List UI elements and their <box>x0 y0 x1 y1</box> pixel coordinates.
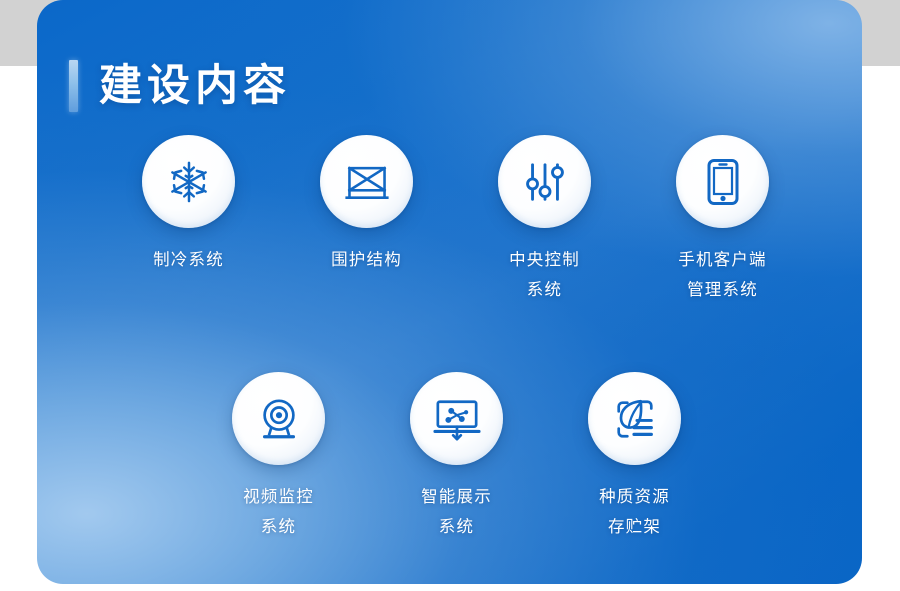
surveillance-camera-icon <box>256 396 302 442</box>
label-line: 视频监控 <box>243 482 314 512</box>
grid-item-label: 智能展示 系统 <box>421 482 492 542</box>
grid-item-video-surveillance[interactable]: 视频监控 系统 <box>190 372 368 542</box>
page-header: 建设内容 <box>69 60 291 112</box>
label-line: 管理系统 <box>678 275 767 305</box>
grid-row-2: 视频监控 系统 <box>37 372 862 542</box>
grid-item-mobile-client[interactable]: 手机客户端 管理系统 <box>634 135 812 305</box>
icon-bubble <box>232 372 325 465</box>
icon-bubble <box>320 135 413 228</box>
grid-item-central-control[interactable]: 中央控制 系统 <box>456 135 634 305</box>
grid-item-label: 围护结构 <box>331 245 402 275</box>
grid-item-label: 种质资源 存贮架 <box>599 482 670 542</box>
title-accent-bar <box>69 60 78 112</box>
label-line: 系统 <box>509 275 580 305</box>
system-grid: 制冷系统 <box>37 135 862 542</box>
label-line: 系统 <box>421 512 492 542</box>
content-panel: 建设内容 <box>37 0 862 584</box>
label-line: 围护结构 <box>331 245 402 275</box>
icon-bubble <box>142 135 235 228</box>
grid-item-label: 手机客户端 管理系统 <box>678 245 767 305</box>
poster-stage: 建设内容 <box>0 0 900 591</box>
smart-display-monitor-icon <box>432 396 482 442</box>
label-line: 制冷系统 <box>153 245 224 275</box>
icon-bubble <box>498 135 591 228</box>
label-line: 中央控制 <box>509 245 580 275</box>
icon-bubble <box>410 372 503 465</box>
grid-item-germplasm-rack[interactable]: 种质资源 存贮架 <box>546 372 724 542</box>
grid-row-1: 制冷系统 <box>37 135 862 305</box>
icon-bubble <box>588 372 681 465</box>
mobile-phone-icon <box>706 158 740 206</box>
icon-bubble <box>676 135 769 228</box>
label-line: 手机客户端 <box>678 245 767 275</box>
label-line: 种质资源 <box>599 482 670 512</box>
grid-item-label: 视频监控 系统 <box>243 482 314 542</box>
snowflake-icon <box>166 159 212 205</box>
grid-item-refrigeration[interactable]: 制冷系统 <box>100 135 278 275</box>
grid-item-label: 制冷系统 <box>153 245 224 275</box>
sliders-control-icon <box>523 159 567 205</box>
page-title: 建设内容 <box>99 65 291 108</box>
label-line: 存贮架 <box>599 512 670 542</box>
label-line: 智能展示 <box>421 482 492 512</box>
grid-item-label: 中央控制 系统 <box>509 245 580 305</box>
label-line: 系统 <box>243 512 314 542</box>
grid-item-enclosure[interactable]: 围护结构 <box>278 135 456 275</box>
enclosure-frame-icon <box>343 159 391 205</box>
grid-item-smart-display[interactable]: 智能展示 系统 <box>368 372 546 542</box>
germplasm-leaf-rack-icon <box>611 396 659 442</box>
